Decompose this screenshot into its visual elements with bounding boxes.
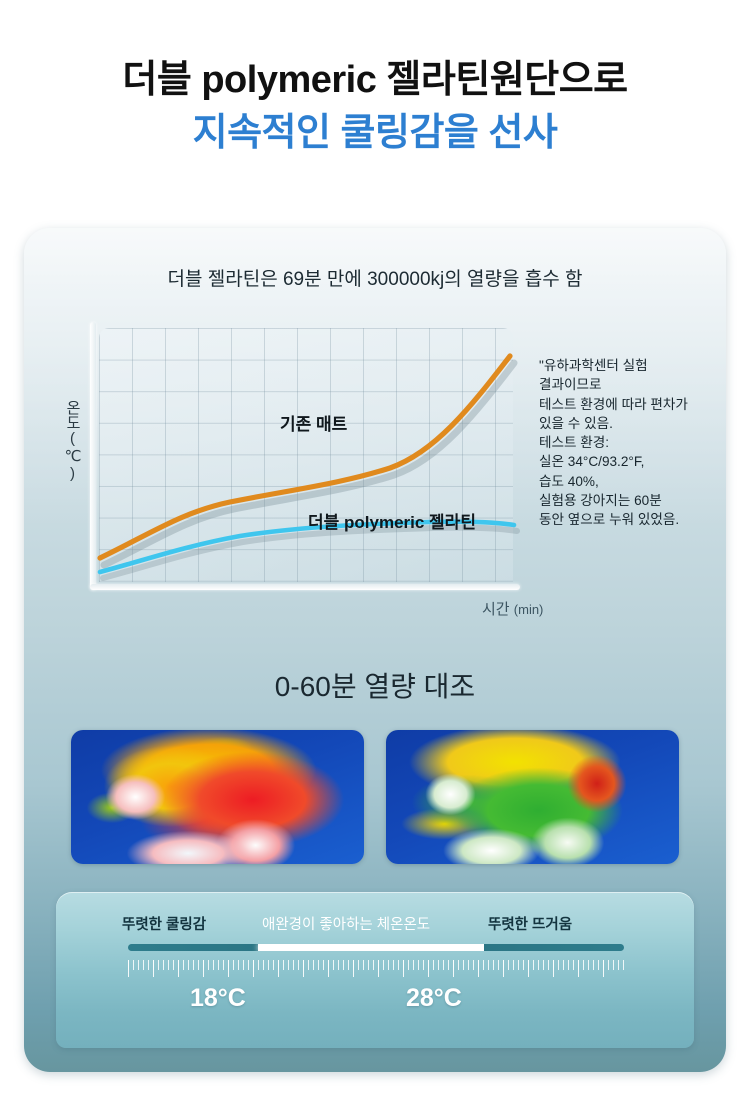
page-headline: 더블 polymeric 젤라틴원단으로 지속적인 쿨링감을 선사 [0,58,750,156]
chart-x-axis-label: 시간 (min) [482,598,543,619]
chart-y-axis-label: 온도(℃) [50,400,80,482]
headline-line-2: 지속적인 쿨링감을 선사 [0,111,750,156]
thermal-image-cool-dog [386,730,679,864]
x-axis-unit: (min) [514,602,544,617]
scale-labels: 뚜렷한 쿨링감 애완경이 좋아하는 체온온도 뚜렷한 뜨거움 [94,913,656,933]
ruler-major-ticks [128,960,624,977]
bar-segment-comfort [258,944,484,951]
scale-label-hot: 뚜렷한 뜨거움 [488,913,572,934]
series-label-legacy-mat: 기존 매트 [280,410,347,435]
thermal-image-hot-dog [71,730,364,864]
thermal-image-row [71,730,679,864]
bar-segment-hot [484,944,624,951]
experiment-note: "유하과학센터 실험 결과이므로 테스트 환경에 따라 편차가 있을 수 있음.… [539,356,705,530]
chart-plot-frame: 기존 매트 더블 polymeric 젤라틴 [90,322,520,590]
x-axis-title: 시간 [482,601,510,618]
chart-caption: 더블 젤라틴은 69분 만에 300000kj의 열량을 흡수 함 [24,264,726,291]
scale-label-body-temp: 애완경이 좋아하는 체온온도 [262,913,430,934]
section-heading: 0-60분 열량 대조 [24,665,726,705]
temperature-bar [128,944,624,951]
temperature-low-value: 18°C [190,984,246,1013]
temperature-scale-panel: 뚜렷한 쿨링감 애완경이 좋아하는 체온온도 뚜렷한 뜨거움 18°C 28°C [56,892,694,1048]
temperature-values: 18°C 28°C [128,984,624,1018]
temperature-high-value: 28°C [406,984,462,1013]
chart-curves [90,322,520,590]
y-axis-title: 온도 [64,400,81,430]
headline-line-1: 더블 polymeric 젤라틴원단으로 [0,58,750,103]
chart-block: 온도(℃) 기존 매트 더블 polymeric 젤라틴 시간 (min [52,316,698,636]
y-axis-unit: (℃) [64,430,81,482]
info-card: 더블 젤라틴은 69분 만에 300000kj의 열량을 흡수 함 온도(℃) … [24,228,726,1072]
scale-label-cooling: 뚜렷한 쿨링감 [122,913,206,934]
bar-segment-cool [128,944,258,951]
series-label-double-gelatin: 더블 polymeric 젤라틴 [308,508,476,533]
